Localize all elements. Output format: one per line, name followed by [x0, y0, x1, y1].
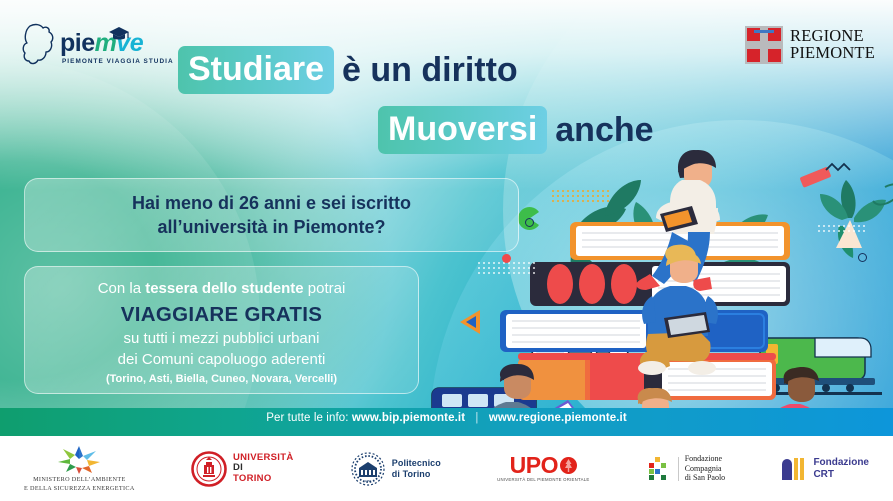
promotional-banner: piemve PIEMONTE VIAGGIA STUDIA REGIONE P… — [0, 0, 893, 501]
upo-title: UPO — [510, 455, 558, 476]
offer-line-3b: dei Comuni capoluogo aderenti — [25, 350, 418, 370]
logo-universita-torino[interactable]: UNIVERSITÀ DI TORINO — [191, 451, 294, 487]
logo-tagline: PIEMONTE VIAGGIA STUDIA — [62, 58, 174, 65]
compagnia-san-paolo-squares-icon — [646, 456, 672, 482]
info-url-regione[interactable]: www.regione.piemonte.it — [489, 412, 627, 424]
banner-background: piemve PIEMONTE VIAGGIA STUDIA REGIONE P… — [0, 0, 893, 436]
piemove-logo[interactable]: piemve PIEMONTE VIAGGIA STUDIA — [22, 22, 182, 70]
info-url-bip[interactable]: www.bip.piemonte.it — [352, 412, 465, 424]
dot-grid-white-right — [818, 225, 865, 232]
offer-line-1-post: potrai — [304, 280, 346, 297]
headline-rest-2: anche — [547, 113, 653, 147]
crt-line-2: CRT — [813, 469, 869, 480]
offer-panel: Con la tessera dello studente potrai VIA… — [24, 266, 419, 394]
ring-outline-small — [525, 218, 534, 227]
headline-highlight-muoversi: Muoversi — [378, 106, 547, 154]
offer-headline: VIAGGIARE GRATIS — [25, 303, 418, 327]
logo-ministero-ambiente[interactable]: MINISTERO DELL’AMBIENTE E DELLA SICUREZZ… — [24, 444, 135, 493]
unito-line-2: DI TORINO — [233, 463, 294, 484]
offer-line-1: Con la tessera dello studente potrai — [25, 279, 418, 299]
offer-cities: (Torino, Asti, Biella, Cuneo, Novara, Ve… — [25, 373, 418, 385]
ring-outline-right — [858, 253, 867, 262]
dot-red-accent — [502, 254, 511, 263]
ministero-star-icon — [56, 444, 102, 474]
question-panel: Hai meno di 26 anni e sei iscritto all’u… — [24, 178, 519, 252]
info-separator: | — [468, 412, 485, 424]
offer-line-1-bold: tessera dello studente — [145, 280, 303, 297]
polito-seal-year: 1859 — [364, 479, 371, 483]
logo-upo[interactable]: UPO UNIVERSITÀ DEL PIEMONTE ORIENTALE — [497, 455, 589, 483]
upo-subtitle: UNIVERSITÀ DEL PIEMONTE ORIENTALE — [497, 477, 589, 482]
upo-tree-icon — [560, 457, 577, 474]
headline-highlight-studiare: Studiare — [178, 46, 334, 94]
triangle-orange-icon — [458, 308, 488, 336]
unito-line-2b: TORINO — [233, 473, 272, 484]
polito-text: Politecnico di Torino — [392, 458, 441, 478]
offer-line-1-pre: Con la — [98, 280, 146, 297]
polito-line-1: Politecnico — [392, 458, 441, 468]
csp-divider — [678, 457, 679, 481]
fondazione-crt-bars-icon — [781, 457, 807, 481]
crt-text: Fondazione CRT — [813, 457, 869, 479]
unito-seal-icon — [191, 451, 227, 487]
regione-piemonte-crest-icon — [745, 26, 783, 64]
logo-politecnico-torino[interactable]: 1859 Politecnico di Torino — [350, 451, 441, 487]
unito-text: UNIVERSITÀ DI TORINO — [233, 453, 294, 485]
question-line-1: Hai meno di 26 anni e sei iscritto — [25, 192, 518, 216]
crt-line-1: Fondazione — [813, 457, 869, 468]
logo-fondazione-crt[interactable]: Fondazione CRT — [781, 457, 869, 481]
dot-grid-white-left — [478, 262, 535, 274]
info-line: Per tutte le info: www.bip.piemonte.it |… — [0, 412, 893, 424]
logo-compagnia-san-paolo[interactable]: Fondazione Compagnia di San Paolo — [646, 454, 725, 483]
question-line-2: all’università in Piemonte? — [25, 216, 518, 240]
polito-line-2: di Torino — [392, 469, 441, 479]
headline-row-2: Muoversi anche — [178, 106, 738, 154]
headline: Studiare è un diritto Muoversi anche — [178, 46, 738, 154]
ministero-line-2: E DELLA SICUREZZA ENERGETICA — [24, 485, 135, 493]
headline-row-1: Studiare è un diritto — [178, 46, 738, 94]
offer-line-3a: su tutti i mezzi pubblici urbani — [25, 329, 418, 349]
regione-line2: PIEMONTE — [790, 45, 875, 62]
footer-logo-bar: MINISTERO DELL’AMBIENTE E DELLA SICUREZZ… — [0, 436, 893, 501]
csp-text: Fondazione Compagnia di San Paolo — [685, 454, 725, 483]
info-prefix: Per tutte le info: — [266, 412, 348, 424]
regione-piemonte-logo[interactable]: REGIONE PIEMONTE — [745, 26, 875, 64]
piemove-wordmark: piemve — [60, 31, 143, 56]
regione-piemonte-text: REGIONE PIEMONTE — [790, 28, 875, 62]
ministero-line-1: MINISTERO DELL’AMBIENTE — [24, 476, 135, 484]
piemonte-region-outline-icon — [22, 22, 56, 68]
csp-line-1: Fondazione — [685, 454, 725, 464]
csp-line-3: di San Paolo — [685, 473, 725, 483]
headline-rest-1: è un diritto — [334, 53, 518, 87]
ministero-text: MINISTERO DELL’AMBIENTE E DELLA SICUREZZ… — [24, 476, 135, 493]
polito-seal-icon: 1859 — [350, 451, 386, 487]
dot-grid-orange-top — [552, 190, 609, 202]
csp-line-2: Compagnia — [685, 464, 725, 474]
graduation-cap-icon — [108, 26, 130, 42]
logo-text-pie: pie — [60, 29, 95, 57]
